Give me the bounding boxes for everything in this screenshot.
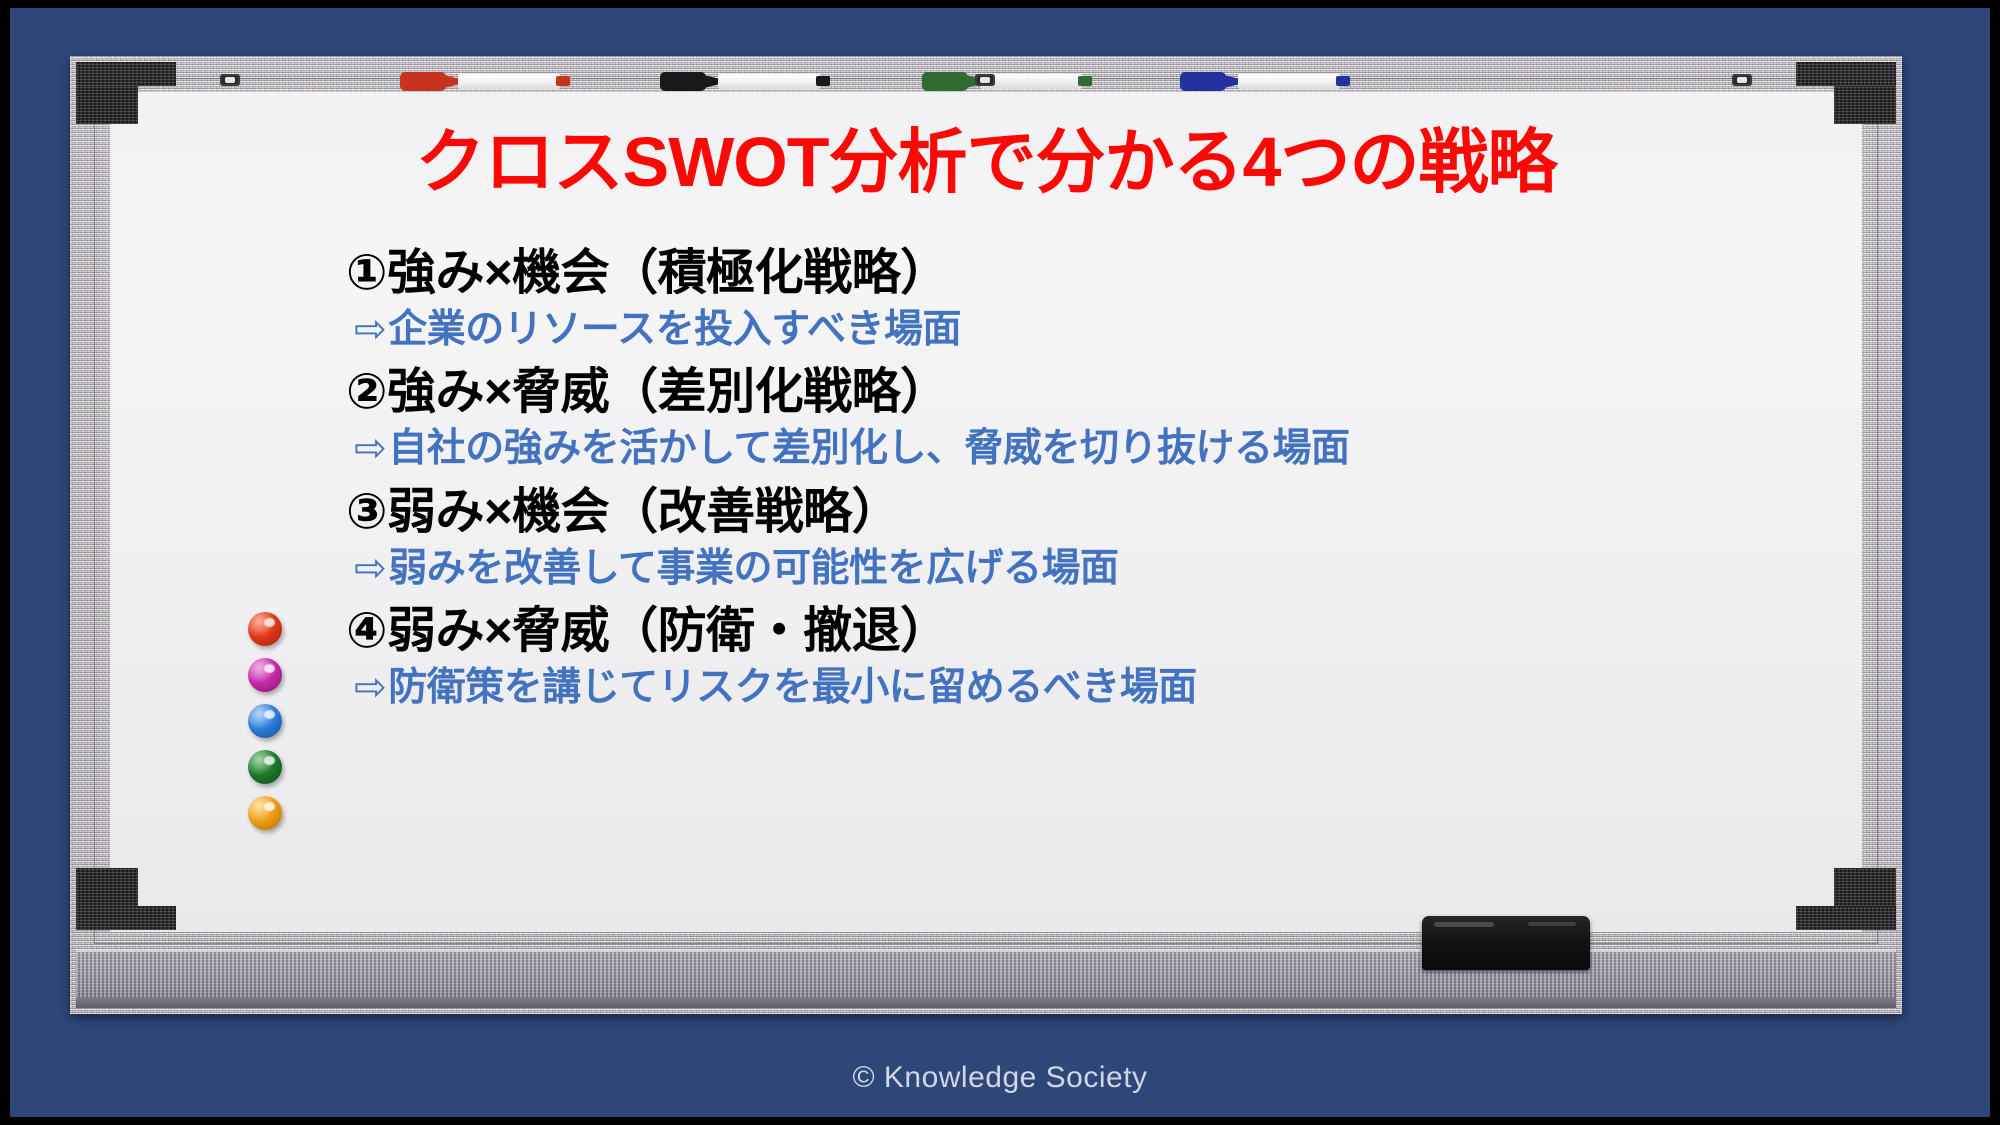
strategy-detail-4: ⇨防衛策を講じてリスクを最小に留めるべき場面 [354, 663, 1832, 714]
list-item: ②強み×脅威（差別化戦略） ⇨自社の強みを活かして差別化し、脅威を切り抜ける場面 [346, 361, 1832, 474]
right-arrow-icon: ⇨ [354, 547, 386, 590]
page-title: クロスSWOT分析で分かる4つの戦略 [110, 126, 1862, 200]
strategy-detail-text-3: 弱みを改善して事業の可能性を広げる場面 [388, 547, 1118, 590]
whiteboard: クロスSWOT分析で分かる4つの戦略 ①強み×機会（積極化戦略） ⇨企業のリソー… [70, 56, 1902, 1014]
strategy-detail-1: ⇨企業のリソースを投入すべき場面 [354, 305, 1832, 356]
magnet-green[interactable] [248, 750, 282, 784]
strategy-heading-1: ①強み×機会（積極化戦略） [346, 242, 1832, 305]
strategy-detail-3: ⇨弱みを改善して事業の可能性を広げる場面 [354, 544, 1832, 595]
corner-bracket-top-right [1834, 62, 1896, 124]
list-item: ③弱み×機会（改善戦略） ⇨弱みを改善して事業の可能性を広げる場面 [346, 481, 1832, 594]
slide: クロスSWOT分析で分かる4つの戦略 ①強み×機会（積極化戦略） ⇨企業のリソー… [0, 0, 2000, 1125]
copyright-footer: © Knowledge Society [0, 1061, 2000, 1095]
frame-clip-center [975, 74, 995, 86]
magnet-orange[interactable] [248, 796, 282, 830]
whiteboard-eraser[interactable] [1422, 916, 1590, 970]
magnet-blue[interactable] [248, 704, 282, 738]
strategy-heading-4: ④弱み×脅威（防衛・撤退） [346, 600, 1832, 663]
strategy-list: ①強み×機会（積極化戦略） ⇨企業のリソースを投入すべき場面 ②強み×脅威（差別… [346, 242, 1832, 720]
frame-clip-left [220, 74, 240, 86]
tray-lip [76, 998, 1896, 1008]
list-item: ①強み×機会（積極化戦略） ⇨企業のリソースを投入すべき場面 [346, 242, 1832, 355]
slide-content: クロスSWOT分析で分かる4つの戦略 ①強み×機会（積極化戦略） ⇨企業のリソー… [110, 92, 1862, 932]
list-item: ④弱み×脅威（防衛・撤退） ⇨防衛策を講じてリスクを最小に留めるべき場面 [346, 600, 1832, 713]
magnet-magenta[interactable] [248, 658, 282, 692]
strategy-heading-2: ②強み×脅威（差別化戦略） [346, 361, 1832, 424]
corner-bracket-top-left [76, 62, 138, 124]
right-arrow-icon: ⇨ [354, 427, 386, 470]
magnet-red[interactable] [248, 612, 282, 646]
right-arrow-icon: ⇨ [354, 308, 386, 351]
marker-tray [76, 950, 1896, 1008]
magnet-strip [248, 612, 282, 830]
corner-bracket-bottom-right [1834, 868, 1896, 930]
strategy-detail-2: ⇨自社の強みを活かして差別化し、脅威を切り抜ける場面 [354, 424, 1832, 475]
right-arrow-icon: ⇨ [354, 666, 386, 709]
whiteboard-surface: クロスSWOT分析で分かる4つの戦略 ①強み×機会（積極化戦略） ⇨企業のリソー… [110, 92, 1862, 932]
strategy-detail-text-4: 防衛策を講じてリスクを最小に留めるべき場面 [388, 666, 1197, 709]
strategy-detail-text-1: 企業のリソースを投入すべき場面 [388, 308, 961, 351]
frame-clip-right [1732, 74, 1752, 86]
strategy-heading-3: ③弱み×機会（改善戦略） [346, 481, 1832, 544]
corner-bracket-bottom-left [76, 868, 138, 930]
strategy-detail-text-2: 自社の強みを活かして差別化し、脅威を切り抜ける場面 [388, 427, 1349, 470]
